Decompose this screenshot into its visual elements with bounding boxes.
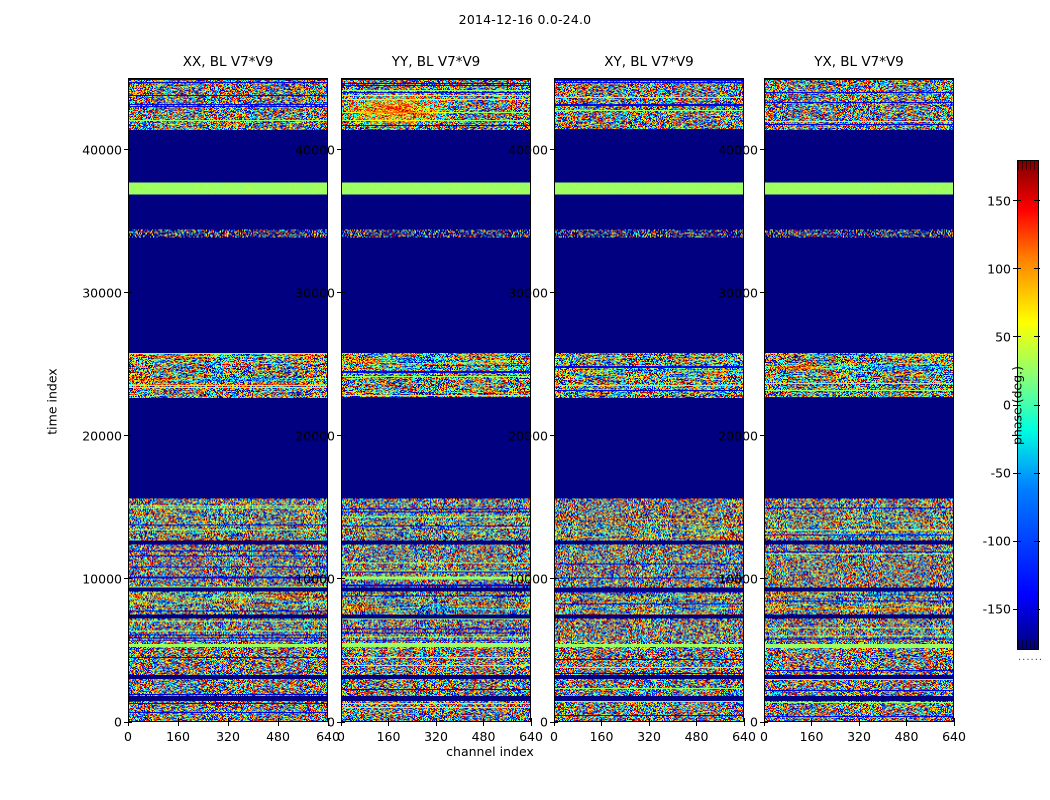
colorbar-tick-mark-inner-6 [1034,200,1040,201]
x-axis-label: channel index [390,744,590,759]
panel-title-xy: XY, BL V7*V9 [554,54,744,70]
ytick-mark-yy-1 [337,578,345,579]
xtick-mark-yx-3 [906,718,907,726]
colorbar-tick-label-1: -100 [961,534,1011,549]
colorbar-tick-mark-inner-4 [1034,336,1040,337]
heatmap-panel-yy[interactable] [341,78,531,722]
xtick-mark-xx-2 [228,718,229,726]
colorbar-tick-mark-2 [1013,473,1021,474]
xtick-mark-xy-0 [554,718,555,726]
ytick-label-yy-1: 10000 [275,571,335,586]
heatmap-image-xy [555,79,743,721]
xtick-label-xy-4: 640 [714,729,774,744]
ytick-mark-xy-2 [550,435,558,436]
xtick-mark-yy-4 [531,718,532,726]
heatmap-image-yx [765,79,953,721]
colorbar-tick-label-0: -150 [961,602,1011,617]
ytick-mark-xx-1 [124,578,132,579]
xtick-mark-xx-0 [128,718,129,726]
xtick-mark-xy-1 [601,718,602,726]
ytick-mark-xy-4 [550,149,558,150]
ytick-label-xy-2: 20000 [488,428,548,443]
colorbar-tick-label-5: 100 [961,261,1011,276]
ytick-mark-xy-3 [550,292,558,293]
xtick-mark-yx-1 [811,718,812,726]
colorbar-tick-mark-inner-0 [1034,609,1040,610]
ytick-mark-yy-3 [337,292,345,293]
figure-suptitle: 2014-12-16 0.0-24.0 [0,12,1050,27]
heatmap-image-yy [342,79,530,721]
ytick-mark-yx-2 [760,435,768,436]
ytick-mark-yx-3 [760,292,768,293]
panel-title-xx: XX, BL V7*V9 [128,54,328,70]
ytick-label-xx-4: 40000 [62,142,122,157]
ytick-label-yy-4: 40000 [275,142,335,157]
xtick-mark-yy-2 [436,718,437,726]
xtick-label-yy-4: 640 [501,729,561,744]
colorbar-tick-mark-inner-2 [1034,473,1040,474]
colorbar-tick-mark-5 [1013,268,1021,269]
colorbar-tick-mark-6 [1013,200,1021,201]
ytick-label-xy-0: 0 [488,715,548,730]
ytick-mark-xy-1 [550,578,558,579]
ytick-mark-yx-4 [760,149,768,150]
ytick-label-xy-4: 40000 [488,142,548,157]
heatmap-image-xx [129,79,327,721]
ytick-label-yx-2: 20000 [698,428,758,443]
ytick-label-yx-3: 30000 [698,285,758,300]
xtick-mark-xx-3 [278,718,279,726]
xtick-mark-xy-4 [744,718,745,726]
xtick-mark-xx-4 [328,718,329,726]
xtick-mark-yx-0 [764,718,765,726]
ytick-label-xy-3: 30000 [488,285,548,300]
xtick-label-xx-4: 640 [298,729,358,744]
ytick-mark-yy-2 [337,435,345,436]
xtick-mark-xy-2 [649,718,650,726]
heatmap-panel-yx[interactable] [764,78,954,722]
ytick-label-xx-3: 30000 [62,285,122,300]
xtick-mark-xy-3 [696,718,697,726]
figure-canvas: 2014-12-16 0.0-24.0 time index channel i… [0,0,1050,800]
colorbar-tick-mark-0 [1013,609,1021,610]
colorbar-tick-mark-inner-3 [1034,405,1040,406]
ytick-label-xx-1: 10000 [62,571,122,586]
colorbar-overflow-marker: ...... [1018,652,1043,663]
ytick-label-xx-2: 20000 [62,428,122,443]
colorbar-tick-mark-inner-1 [1034,541,1040,542]
ytick-label-xx-0: 0 [62,715,122,730]
xtick-mark-yy-0 [341,718,342,726]
y-axis-label: time index [45,342,60,462]
ytick-mark-xx-3 [124,292,132,293]
ytick-label-yy-3: 30000 [275,285,335,300]
colorbar-over-hatch [1018,161,1038,170]
panel-title-yx: YX, BL V7*V9 [764,54,954,70]
xtick-mark-xx-1 [178,718,179,726]
xtick-mark-yy-1 [388,718,389,726]
ytick-label-yy-0: 0 [275,715,335,730]
colorbar-tick-mark-3 [1013,405,1021,406]
colorbar-tick-label-2: -50 [961,466,1011,481]
ytick-label-yy-2: 20000 [275,428,335,443]
ytick-label-xy-1: 10000 [488,571,548,586]
ytick-mark-xx-4 [124,149,132,150]
colorbar-tick-mark-4 [1013,336,1021,337]
ytick-label-yx-0: 0 [698,715,758,730]
colorbar-tick-label-3: 0 [961,398,1011,413]
ytick-label-yx-4: 40000 [698,142,758,157]
colorbar-tick-mark-1 [1013,541,1021,542]
heatmap-panel-xx[interactable] [128,78,328,722]
xtick-mark-yx-2 [859,718,860,726]
colorbar-tick-label-4: 50 [961,329,1011,344]
ytick-mark-xx-2 [124,435,132,436]
colorbar-tick-label-6: 150 [961,193,1011,208]
colorbar-tick-mark-inner-5 [1034,268,1040,269]
colorbar-under-hatch [1018,640,1038,649]
xtick-mark-yy-3 [483,718,484,726]
panel-title-yy: YY, BL V7*V9 [341,54,531,70]
xtick-mark-yx-4 [954,718,955,726]
xtick-label-yx-4: 640 [924,729,984,744]
ytick-mark-yx-1 [760,578,768,579]
ytick-label-yx-1: 10000 [698,571,758,586]
heatmap-panel-xy[interactable] [554,78,744,722]
ytick-mark-yy-4 [337,149,345,150]
